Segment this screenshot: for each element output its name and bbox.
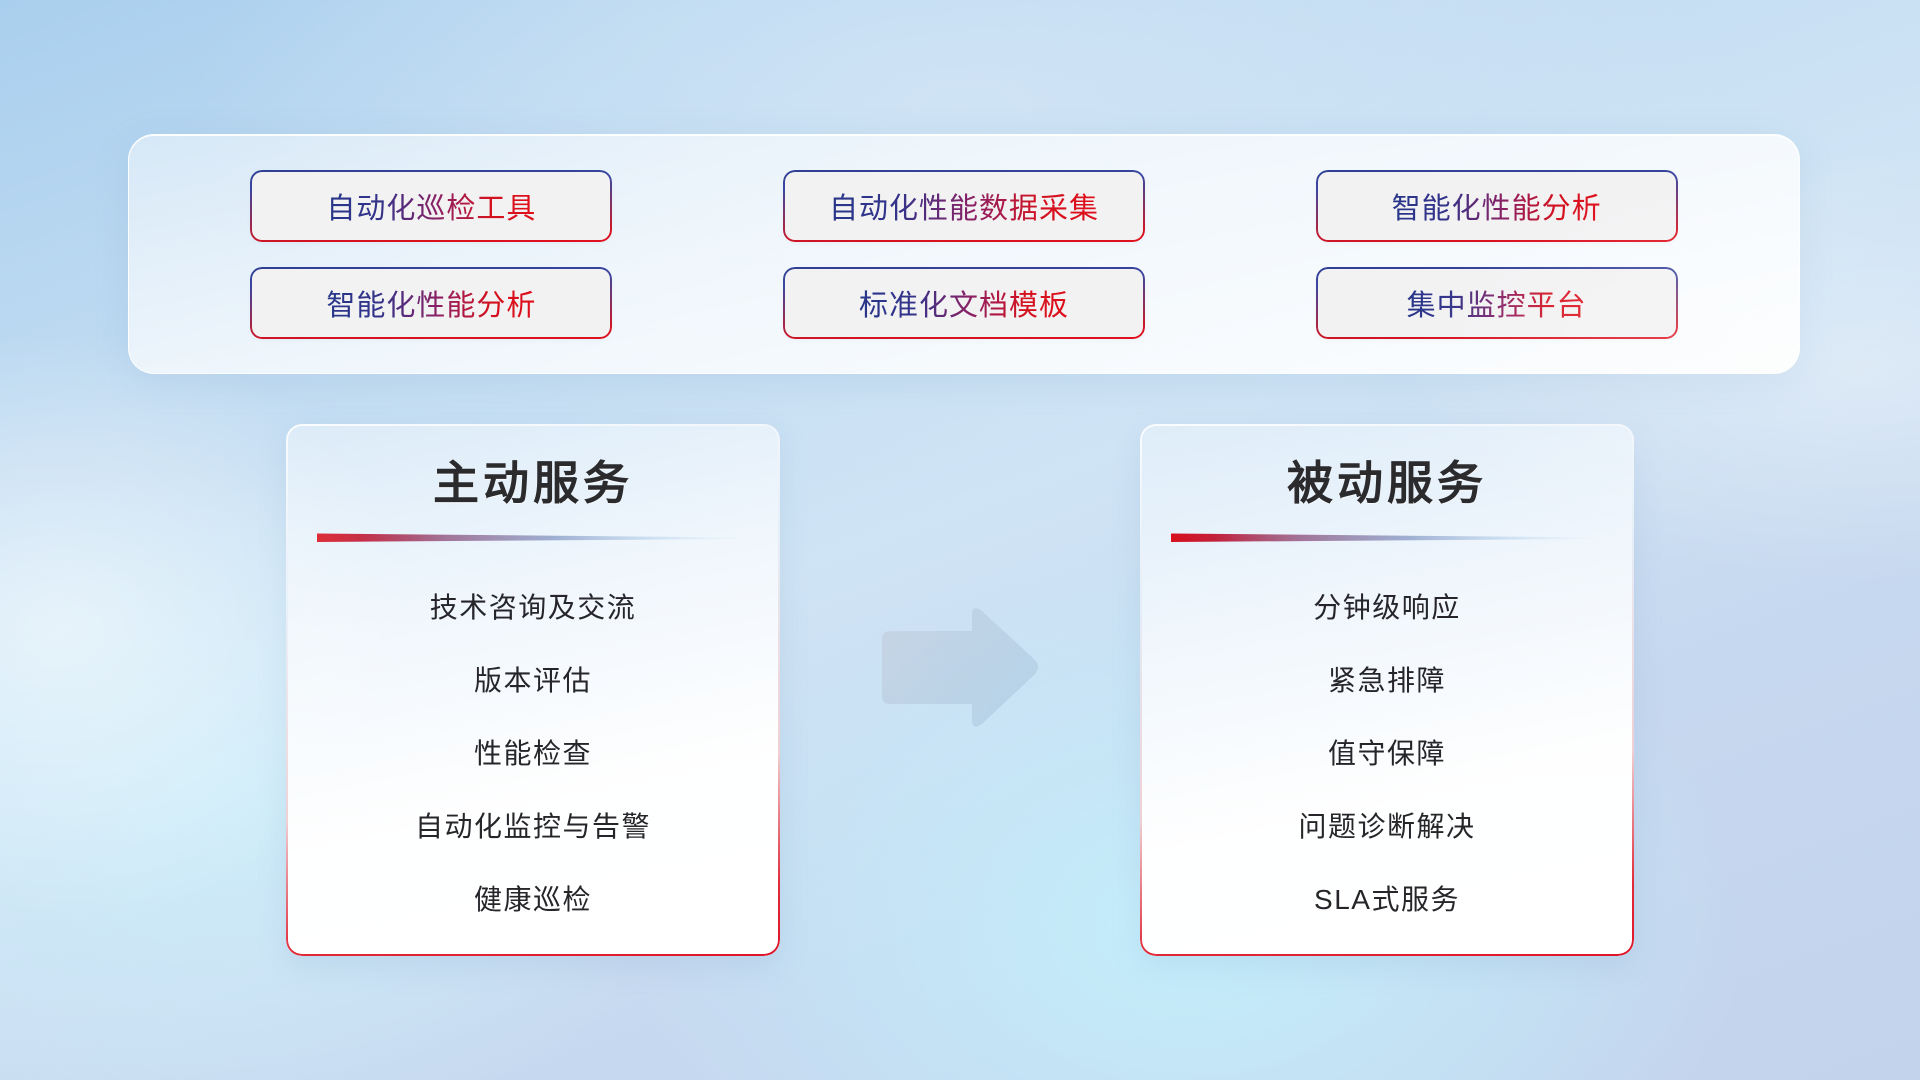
title-divider xyxy=(1171,531,1603,543)
divider-shape xyxy=(317,531,749,543)
service-card-active: 主动服务 xyxy=(286,424,780,956)
list-item: 紧急排障 xyxy=(1328,644,1446,717)
capability-tag[interactable]: 集中监控平台 xyxy=(1318,269,1676,337)
service-item-list: 分钟级响应 紧急排障 值守保障 问题诊断解决 SLA式服务 xyxy=(1140,571,1634,936)
service-card-passive: 被动服务 xyxy=(1140,424,1634,956)
capability-tag-label: 自动化巡检工具 xyxy=(326,185,536,227)
card-title: 主动服务 xyxy=(433,458,633,509)
list-item: 值守保障 xyxy=(1328,717,1446,790)
capability-tag[interactable]: 自动化性能数据采集 xyxy=(785,172,1143,240)
capability-tag-label: 自动化性能数据采集 xyxy=(829,185,1099,227)
card-title: 被动服务 xyxy=(1287,458,1487,509)
capability-tag[interactable]: 自动化巡检工具 xyxy=(252,172,610,240)
service-item-list: 技术咨询及交流 版本评估 性能检查 自动化监控与告警 健康巡检 xyxy=(286,571,780,936)
list-item: 健康巡检 xyxy=(474,863,592,936)
list-item: 自动化监控与告警 xyxy=(415,790,651,863)
right-arrow-shape xyxy=(872,604,1040,732)
right-arrow-icon xyxy=(872,604,1040,732)
list-item: SLA式服务 xyxy=(1314,863,1460,936)
capability-tag[interactable]: 智能化性能分析 xyxy=(1318,172,1676,240)
capability-tag-label: 智能化性能分析 xyxy=(326,282,536,324)
list-item: 版本评估 xyxy=(474,644,592,717)
capability-tag[interactable]: 智能化性能分析 xyxy=(252,269,610,337)
infographic-canvas: 自动化巡检工具 自动化性能数据采集 智能化性能分析 智能化性能分析 标准化文档模… xyxy=(0,0,1920,1080)
divider-shape xyxy=(1171,531,1603,543)
list-item: 技术咨询及交流 xyxy=(430,571,637,644)
capability-tag[interactable]: 标准化文档模板 xyxy=(785,269,1143,337)
card-content: 主动服务 xyxy=(286,424,780,956)
title-divider xyxy=(317,531,749,543)
capability-tags-panel: 自动化巡检工具 自动化性能数据采集 智能化性能分析 智能化性能分析 标准化文档模… xyxy=(128,134,1800,374)
list-item: 性能检查 xyxy=(474,717,592,790)
capability-tag-label: 集中监控平台 xyxy=(1407,282,1587,324)
list-item: 分钟级响应 xyxy=(1313,571,1461,644)
list-item: 问题诊断解决 xyxy=(1298,790,1475,863)
card-content: 被动服务 xyxy=(1140,424,1634,956)
capability-tag-label: 标准化文档模板 xyxy=(859,282,1069,324)
capability-tag-label: 智能化性能分析 xyxy=(1392,185,1602,227)
